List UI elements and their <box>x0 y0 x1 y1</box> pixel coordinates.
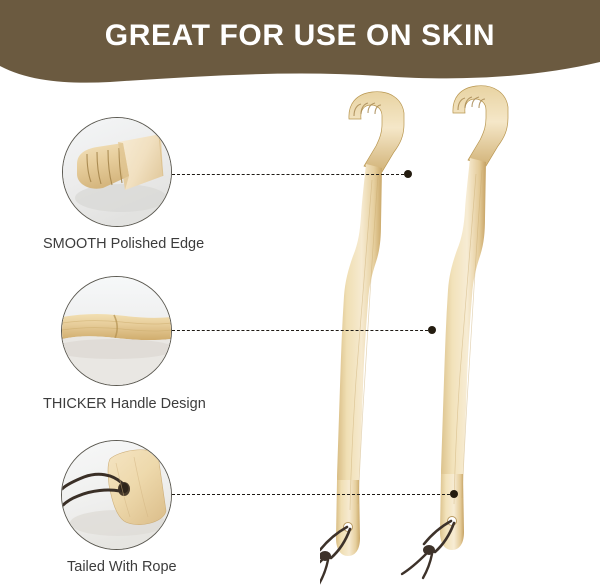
back-scratcher-pair-image <box>320 80 600 585</box>
connector-dot-tailed-rope <box>450 490 458 498</box>
callout-circle-thicker-handle <box>61 276 172 386</box>
connector-line-tailed-rope <box>172 494 450 495</box>
smooth-edge-detail-image <box>63 118 171 226</box>
connector-line-thicker-handle <box>172 330 428 331</box>
callout-circle-smooth-edge <box>62 117 172 227</box>
callout-label-tailed-rope: Tailed With Rope <box>67 559 177 575</box>
infographic-page: GREAT FOR USE ON SKIN <box>0 0 600 585</box>
scratcher-right <box>402 86 508 578</box>
connector-dot-smooth-edge <box>404 170 412 178</box>
scratcher-left <box>320 92 404 584</box>
thicker-handle-detail-image <box>62 277 171 385</box>
connector-dot-thicker-handle <box>428 326 436 334</box>
callout-circle-tailed-rope <box>61 440 172 550</box>
callout-label-smooth-edge: SMOOTH Polished Edge <box>43 236 204 252</box>
connector-line-smooth-edge <box>172 174 404 175</box>
callout-label-thicker-handle: THICKER Handle Design <box>43 396 206 412</box>
header-banner: GREAT FOR USE ON SKIN <box>0 0 600 92</box>
tailed-rope-detail-image <box>62 441 171 549</box>
banner-title: GREAT FOR USE ON SKIN <box>0 19 600 53</box>
